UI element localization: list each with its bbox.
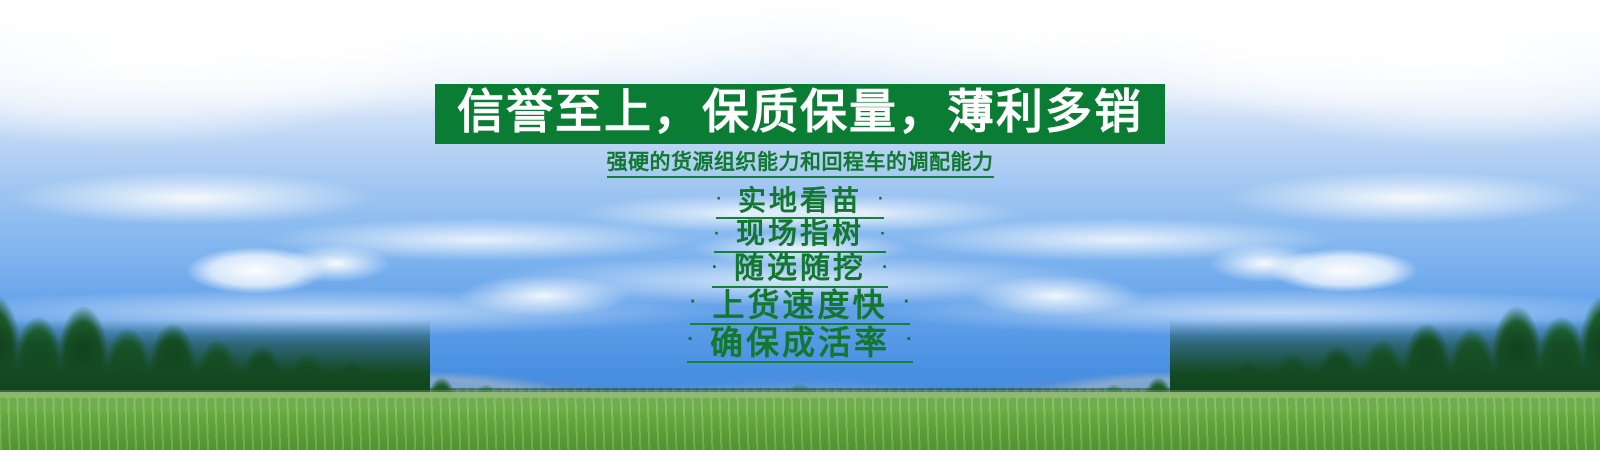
feature-list: · 实地看苗 · · 现场指树 · · 随选随挖 · · 上货速度快 · ·	[687, 186, 913, 363]
bullet-dot-right-icon: ·	[880, 223, 886, 241]
feature-label-2: 现场指树	[736, 220, 864, 249]
feature-label-1: 实地看苗	[738, 187, 862, 215]
feature-item-4: · 上货速度快 ·	[690, 288, 910, 325]
headline-text: 信誉至上，保质保量，薄利多销	[457, 88, 1143, 136]
promo-banner: 信誉至上，保质保量，薄利多销 强硬的货源组织能力和回程车的调配能力 · 实地看苗…	[0, 0, 1600, 450]
bullet-dot-left-icon: ·	[714, 223, 720, 241]
feature-label-3: 随选随挖	[734, 254, 866, 284]
feature-item-3: · 随选随挖 ·	[712, 253, 888, 288]
bullet-dot-left-icon: ·	[716, 190, 722, 207]
feature-item-1: · 实地看苗 ·	[716, 186, 884, 219]
bullet-dot-right-icon: ·	[904, 293, 911, 313]
bullet-dot-right-icon: ·	[906, 330, 913, 350]
bullet-dot-left-icon: ·	[712, 258, 718, 277]
bullet-dot-right-icon: ·	[878, 190, 884, 207]
bullet-dot-left-icon: ·	[690, 293, 697, 313]
banner-content: 信誉至上，保质保量，薄利多销 强硬的货源组织能力和回程车的调配能力 · 实地看苗…	[0, 0, 1600, 450]
headline-bar: 信誉至上，保质保量，薄利多销	[435, 84, 1165, 144]
bullet-dot-right-icon: ·	[882, 258, 888, 277]
feature-item-5: · 确保成活率 ·	[687, 325, 913, 363]
feature-item-2: · 现场指树 ·	[714, 219, 886, 253]
subtitle-text: 强硬的货源组织能力和回程车的调配能力	[607, 151, 994, 178]
feature-label-5: 确保成活率	[710, 326, 890, 359]
bullet-dot-left-icon: ·	[687, 330, 694, 350]
feature-label-4: 上货速度快	[712, 289, 887, 321]
